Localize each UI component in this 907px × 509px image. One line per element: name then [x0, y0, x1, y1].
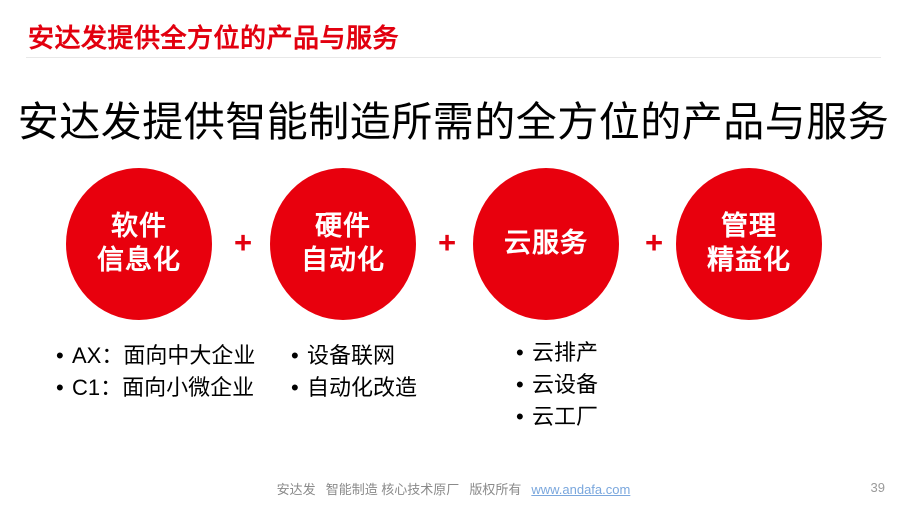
list-item-label: 云设备: [532, 372, 598, 397]
list-item: •自动化改造: [291, 372, 417, 404]
footer-brand: 安达发: [277, 482, 316, 497]
list-item-label: C1：面向小微企业: [72, 375, 254, 400]
pillar-label-line1: 管理: [721, 210, 777, 244]
pillar-label-line1: 云服务: [504, 227, 588, 261]
pillar-label-line2: 自动化: [301, 244, 385, 278]
plus-operator-3: +: [637, 226, 671, 260]
pillar-label-line2: 精益化: [707, 244, 791, 278]
footer-rights: 版权所有: [469, 482, 521, 497]
list-item-label: 云工厂: [532, 404, 598, 429]
bullet-marker-icon: •: [291, 372, 307, 404]
footer: 安达发智能制造 核心技术原厂版权所有www.andafa.com: [0, 479, 907, 498]
list-item-label: 设备联网: [307, 343, 395, 368]
list-item: •云工厂: [516, 401, 598, 433]
pillar-label-line1: 硬件: [315, 210, 371, 244]
footer-website-link[interactable]: www.andafa.com: [531, 482, 630, 497]
slide-root: 安达发提供全方位的产品与服务 安达发提供智能制造所需的全方位的产品与服务 软件 …: [0, 0, 907, 509]
bullet-group-cloud: •云排产 •云设备 •云工厂: [516, 337, 598, 433]
pillar-bubble-software: 软件 信息化: [66, 168, 212, 320]
footer-tagline: 智能制造 核心技术原厂: [326, 482, 460, 497]
list-item: •云排产: [516, 337, 598, 369]
pillar-label-line2: 信息化: [97, 244, 181, 278]
title-divider: [26, 57, 881, 58]
list-item-label: 云排产: [532, 340, 598, 365]
bullet-marker-icon: •: [291, 340, 307, 372]
bullet-group-hardware: •设备联网 •自动化改造: [291, 340, 417, 404]
page-number: 39: [871, 480, 885, 495]
pillar-bubble-hardware: 硬件 自动化: [270, 168, 416, 320]
bullet-marker-icon: •: [516, 401, 532, 433]
plus-operator-2: +: [430, 226, 464, 260]
pillar-bubble-management: 管理 精益化: [676, 168, 822, 320]
pillar-label-line1: 软件: [111, 210, 167, 244]
list-item: •C1：面向小微企业: [56, 372, 255, 404]
bullet-marker-icon: •: [516, 337, 532, 369]
list-item: •设备联网: [291, 340, 417, 372]
list-item: •云设备: [516, 369, 598, 401]
page-title: 安达发提供全方位的产品与服务: [28, 18, 399, 55]
list-item-label: 自动化改造: [307, 375, 417, 400]
list-item: •AX：面向中大企业: [56, 340, 255, 372]
bullet-group-software: •AX：面向中大企业 •C1：面向小微企业: [56, 340, 255, 404]
pillars-row: 软件 信息化 + 硬件 自动化 + 云服务 + 管理 精益化: [0, 168, 907, 323]
bullet-marker-icon: •: [56, 372, 72, 404]
bullet-marker-icon: •: [56, 340, 72, 372]
bullet-marker-icon: •: [516, 369, 532, 401]
main-heading: 安达发提供智能制造所需的全方位的产品与服务: [0, 88, 907, 148]
list-item-label: AX：面向中大企业: [72, 343, 255, 368]
plus-operator-1: +: [226, 226, 260, 260]
pillar-bubble-cloud: 云服务: [473, 168, 619, 320]
